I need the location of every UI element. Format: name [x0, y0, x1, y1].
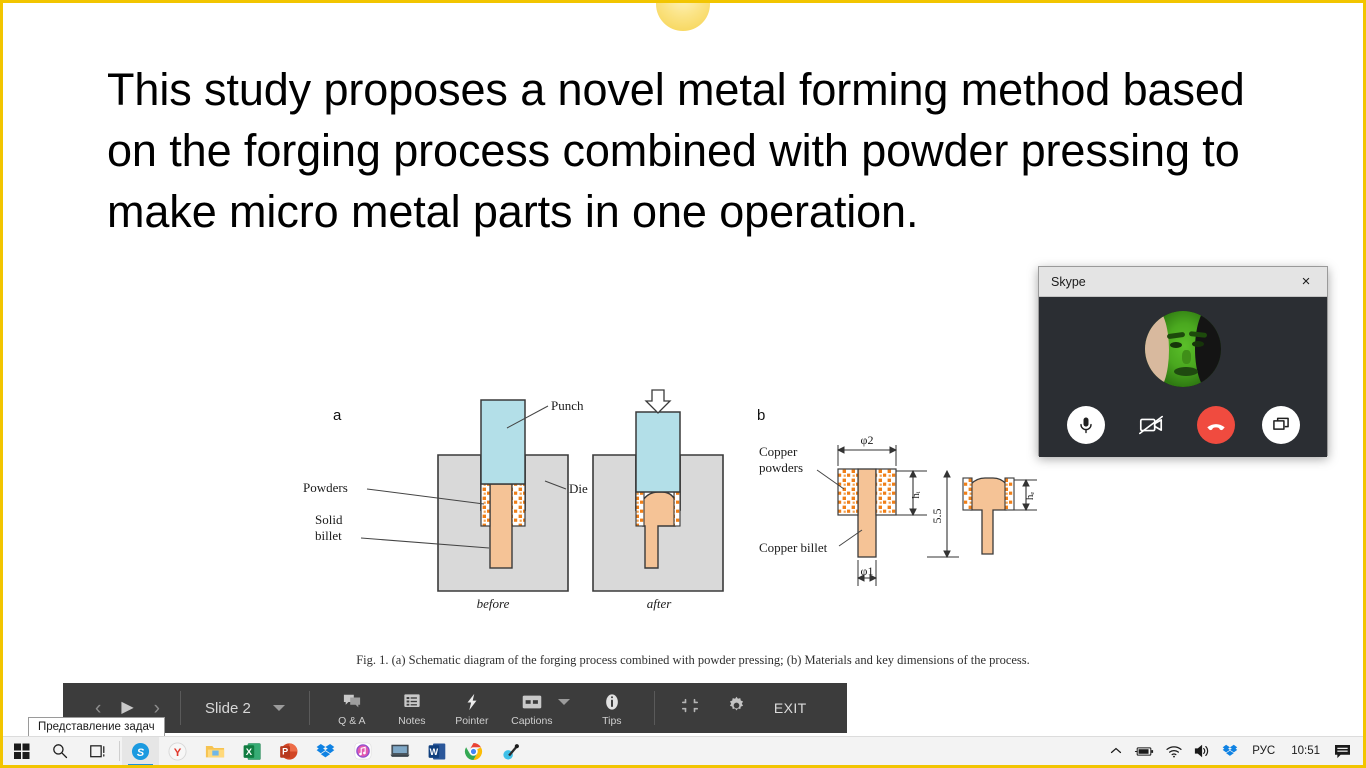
pointer-button[interactable]: Pointer	[444, 690, 500, 727]
volume-icon[interactable]	[1190, 737, 1214, 766]
taskbar-app-powerpoint[interactable]: P	[270, 737, 307, 766]
slide-navigation-group: ‹ ▶ ›	[63, 699, 180, 718]
svg-text:Y: Y	[174, 746, 182, 758]
figure-container: a b before	[293, 388, 1093, 678]
chevron-down-icon[interactable]	[273, 705, 285, 711]
exit-button[interactable]: EXIT	[774, 700, 807, 716]
taskbar-app-yandex-browser[interactable]: Y	[159, 737, 196, 766]
picture-in-picture-icon[interactable]	[1262, 406, 1300, 444]
skype-video-area	[1039, 297, 1327, 457]
before-label: before	[477, 596, 510, 611]
captions-button[interactable]: Captions	[504, 690, 560, 727]
presenter-end-group: EXIT	[655, 696, 825, 720]
label-punch: Punch	[551, 398, 584, 413]
play-icon[interactable]: ▶	[121, 700, 133, 716]
label-powders: Powders	[303, 480, 348, 495]
battery-icon[interactable]	[1130, 737, 1158, 766]
avatar	[1145, 311, 1221, 387]
label-solid-billet-2: billet	[315, 528, 342, 543]
start-button[interactable]	[3, 737, 41, 766]
action-center-icon[interactable]	[1330, 737, 1355, 766]
taskbar-app-recorder[interactable]	[492, 737, 529, 766]
after-label: after	[647, 596, 672, 611]
slide-selector[interactable]: Slide 2	[181, 700, 309, 717]
svg-text:X: X	[245, 747, 252, 758]
gear-icon[interactable]	[727, 696, 746, 720]
presenter-tools: Q & A Notes	[310, 690, 654, 727]
tips-info-icon	[603, 692, 621, 712]
dropbox-tray-icon[interactable]	[1218, 737, 1242, 766]
skype-window-title: Skype	[1051, 275, 1086, 289]
next-slide-icon[interactable]: ›	[154, 699, 160, 718]
captions-chevron-down-icon[interactable]	[558, 699, 570, 705]
taskbar-app-excel[interactable]: X	[233, 737, 270, 766]
skype-titlebar[interactable]: Skype ×	[1039, 267, 1327, 297]
captions-label: Captions	[511, 715, 552, 727]
qa-button[interactable]: Q & A	[324, 690, 380, 727]
taskbar-app-dropbox[interactable]	[307, 737, 344, 766]
dim-hi: hᵢ	[910, 491, 922, 499]
panel-b-label: b	[757, 407, 765, 424]
notes-button[interactable]: Notes	[384, 690, 440, 727]
taskbar-app-file-explorer[interactable]	[196, 737, 233, 766]
taskbar-app-display[interactable]	[381, 737, 418, 766]
svg-text:S: S	[137, 746, 145, 758]
video-off-icon[interactable]	[1132, 406, 1170, 444]
taskbar-app-chrome[interactable]	[455, 737, 492, 766]
dim-phi1: φ1	[861, 564, 874, 578]
microphone-icon[interactable]	[1067, 406, 1105, 444]
label-copper-powders-2: powders	[759, 460, 803, 475]
taskbar-left-group: S Y	[3, 737, 529, 765]
taskbar-divider	[119, 741, 120, 761]
forging-process-diagram: a b before	[293, 388, 1093, 648]
tips-button[interactable]: Tips	[584, 690, 640, 727]
screen-root: This study proposes a novel metal formin…	[0, 0, 1366, 768]
search-icon[interactable]	[41, 737, 79, 766]
task-view-icon[interactable]	[79, 737, 117, 766]
taskbar-app-itunes[interactable]	[344, 737, 381, 766]
windows-taskbar: S Y	[3, 736, 1363, 765]
current-slide-label: Slide 2	[205, 700, 251, 717]
diagram-before: before	[438, 400, 568, 611]
skype-call-window[interactable]: Skype ×	[1038, 266, 1328, 456]
figure-caption: Fig. 1. (a) Schematic diagram of the for…	[293, 653, 1093, 668]
skype-call-controls	[1039, 406, 1327, 444]
pointer-label: Pointer	[455, 715, 488, 727]
taskbar-app-word[interactable]: W	[418, 737, 455, 766]
label-die: Die	[569, 481, 588, 496]
language-indicator[interactable]: РУС	[1246, 737, 1281, 766]
close-icon[interactable]: ×	[1289, 268, 1323, 296]
system-tray: РУС 10:51	[1106, 737, 1363, 765]
captions-icon	[522, 692, 542, 712]
label-solid-billet-1: Solid	[315, 512, 343, 527]
slide-title: This study proposes a novel metal formin…	[107, 59, 1247, 242]
decorative-circle-icon	[656, 0, 710, 31]
dim-total-height: 5.5	[930, 509, 944, 524]
dim-hf: hₑ	[1024, 492, 1036, 501]
restore-screen-icon[interactable]	[681, 697, 699, 720]
pointer-icon	[463, 692, 481, 712]
label-copper-powders-1: Copper	[759, 444, 798, 459]
previous-slide-icon[interactable]: ‹	[95, 699, 101, 718]
qa-icon	[343, 692, 361, 712]
diagram-materials-before: φ2 hᵢ 5.5 φ1	[838, 433, 959, 586]
presenter-toolbar: ‹ ▶ › Slide 2 Q & A	[63, 683, 847, 733]
qa-label: Q & A	[338, 715, 365, 727]
svg-text:W: W	[429, 747, 438, 757]
end-call-icon[interactable]	[1197, 406, 1235, 444]
dim-phi2: φ2	[861, 433, 874, 447]
wifi-icon[interactable]	[1162, 737, 1186, 766]
notes-icon	[403, 692, 421, 712]
diagram-materials-after: hₑ	[963, 478, 1037, 554]
show-hidden-icons-icon[interactable]	[1106, 737, 1126, 766]
notes-label: Notes	[398, 715, 425, 727]
task-view-tooltip: Представление задач	[28, 717, 165, 737]
label-copper-billet: Copper billet	[759, 540, 828, 555]
svg-text:P: P	[282, 746, 288, 756]
panel-a-label: a	[333, 407, 342, 424]
clock[interactable]: 10:51	[1285, 737, 1326, 766]
tips-label: Tips	[602, 715, 621, 727]
taskbar-app-skype[interactable]: S	[122, 737, 159, 766]
diagram-after: after	[593, 390, 723, 611]
